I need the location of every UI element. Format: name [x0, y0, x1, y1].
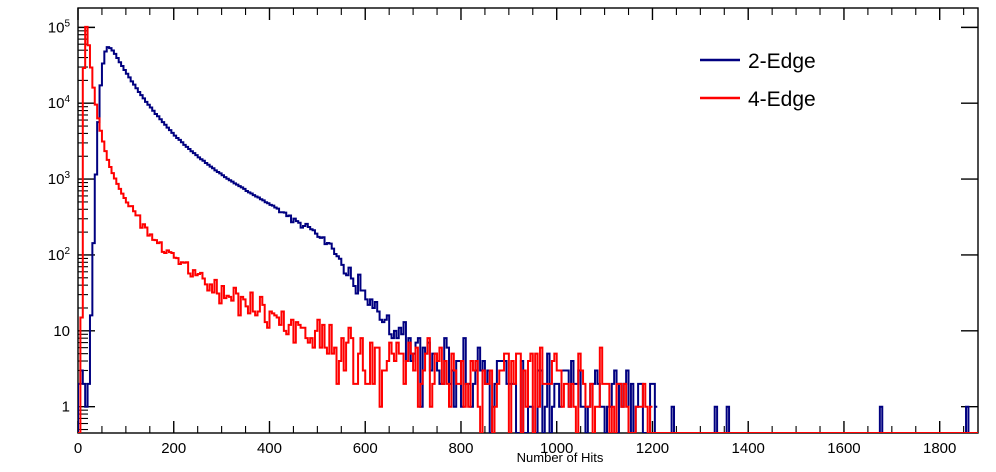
x-tick-label: 1200	[636, 440, 669, 457]
y-tick-label: 1	[62, 399, 70, 416]
x-tick-label: 0	[74, 440, 82, 457]
x-tick-label: 800	[448, 440, 473, 457]
chart-canvas: 110102103104105 020040060080010001200140…	[0, 0, 996, 472]
histogram-plot: 110102103104105 020040060080010001200140…	[0, 0, 996, 472]
x-tick-label: 1800	[923, 440, 956, 457]
x-axis-title-text: Number of Hits	[517, 450, 604, 465]
x-tick-label: 1600	[827, 440, 860, 457]
legend-label-2-edge: 2-Edge	[748, 50, 816, 73]
x-axis-title: Number of Hits	[517, 450, 604, 465]
legend-label-4-edge: 4-Edge	[748, 88, 816, 111]
x-tick-label: 400	[257, 440, 282, 457]
x-tick-label: 200	[161, 440, 186, 457]
x-tick-label: 1400	[732, 440, 765, 457]
y-tick-label: 10	[53, 323, 70, 340]
x-tick-label: 600	[353, 440, 378, 457]
